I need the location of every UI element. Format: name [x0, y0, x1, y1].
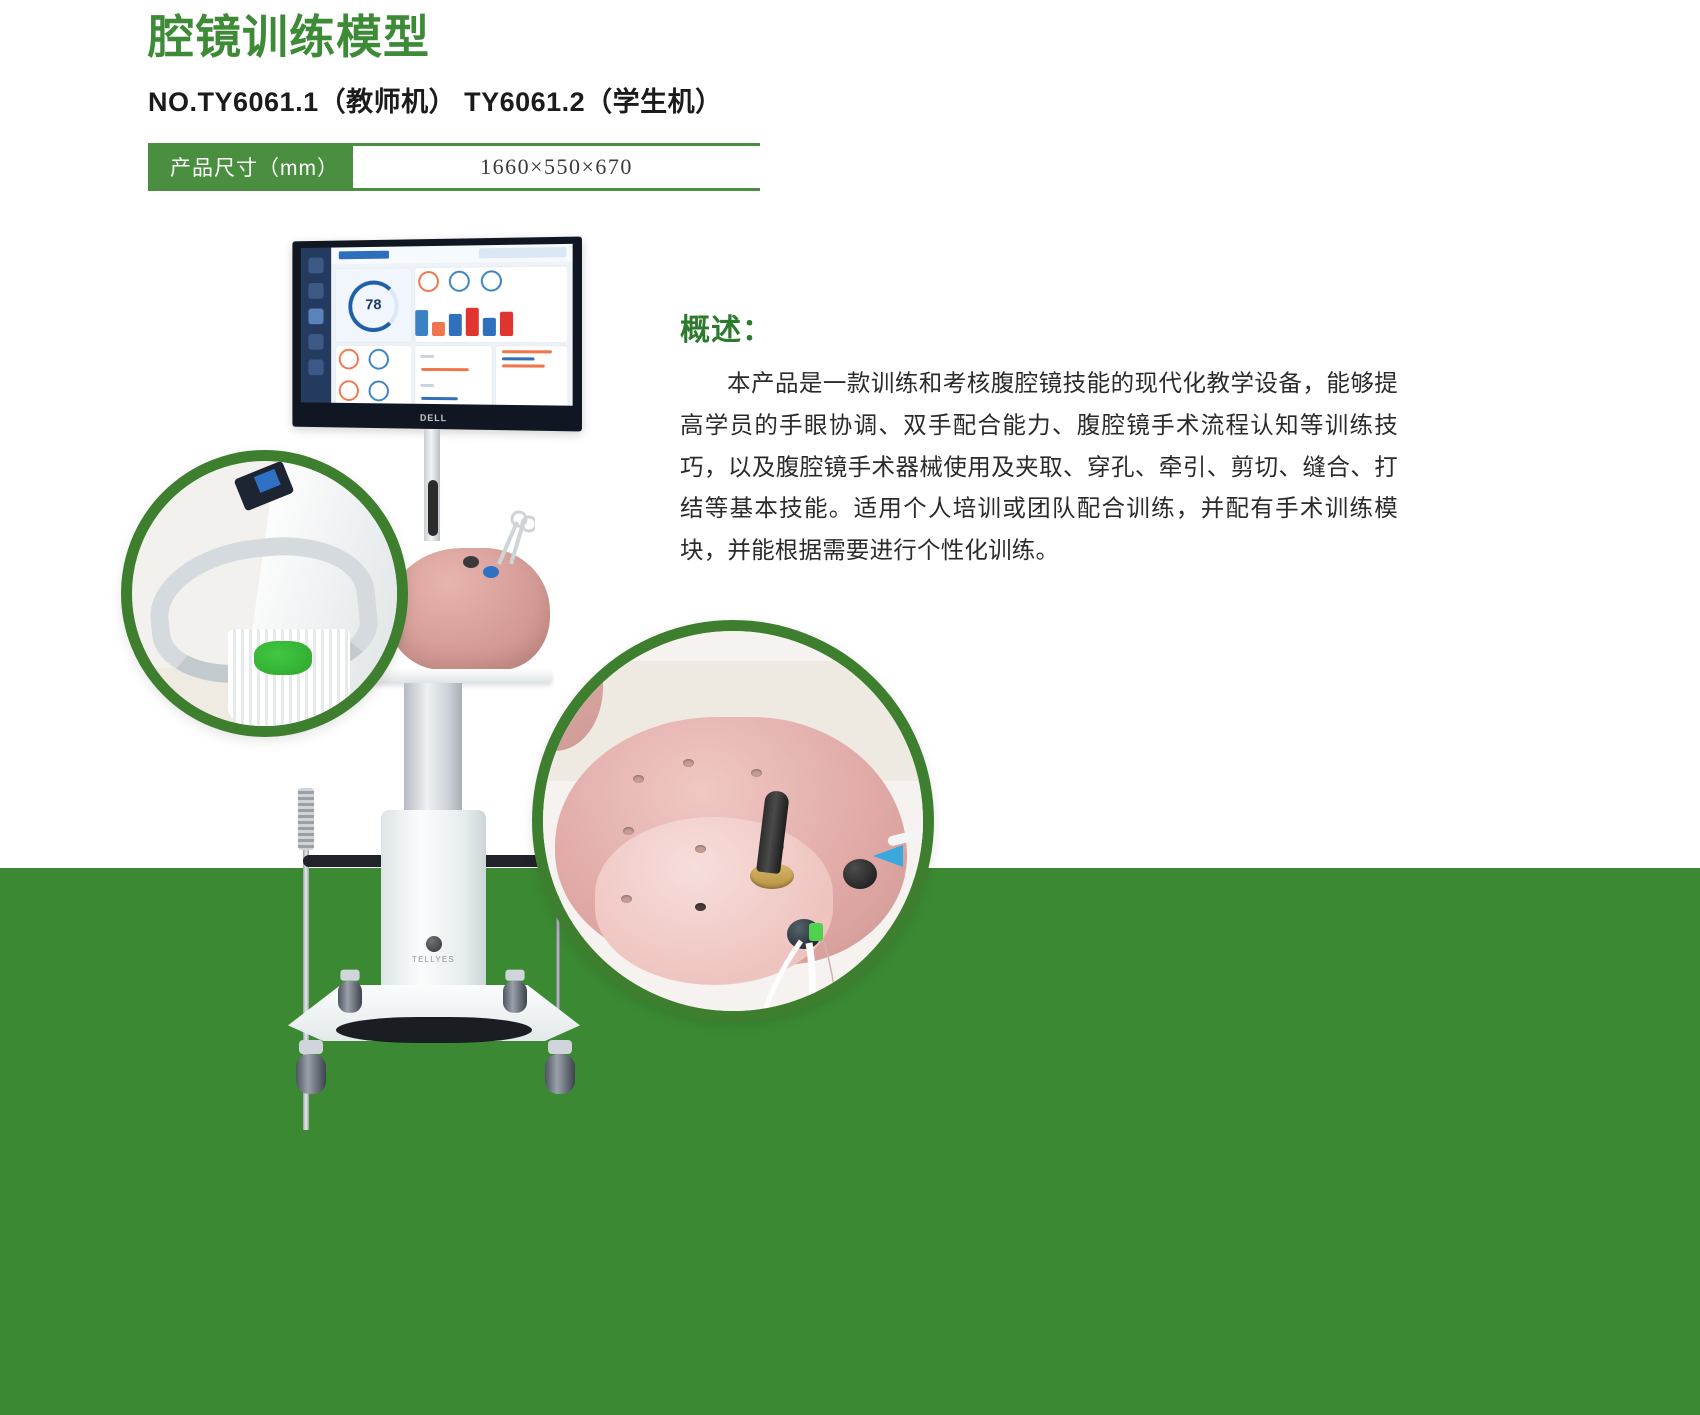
blue-valve-cap — [873, 845, 903, 867]
metric-ring-blue-2 — [481, 270, 502, 291]
dashboard-row-top: 78 — [336, 266, 568, 342]
dashboard-sidebar — [301, 248, 331, 403]
caster-cap — [299, 1040, 323, 1054]
cart-brand-logo: TELLYES — [381, 955, 486, 964]
hbar-blue — [502, 357, 534, 360]
cart-base — [288, 985, 580, 1047]
dashboard-body: 78 — [331, 261, 572, 405]
dashboard-row-bottom — [336, 346, 568, 406]
insertion-hole — [621, 895, 632, 903]
caster-roller — [338, 981, 362, 1013]
caster-wheel — [545, 1040, 575, 1086]
metric-ring-blue — [449, 271, 470, 292]
skill-rings — [336, 346, 411, 406]
insertion-hole — [695, 845, 706, 853]
caster-wheel — [296, 1040, 326, 1086]
score-value: 78 — [352, 297, 395, 314]
chart-bar — [483, 318, 496, 336]
skill-ring-blue-2 — [369, 380, 389, 401]
insertion-hole — [623, 827, 634, 835]
hbar-group — [415, 346, 492, 406]
summary-card — [496, 346, 568, 406]
metric-ring-orange — [418, 271, 439, 292]
score-card: 78 — [336, 268, 411, 342]
skill-ring-orange — [339, 349, 359, 370]
cart-logo-mark — [426, 936, 442, 952]
hbar-orange — [502, 364, 545, 367]
metrics-card — [415, 266, 567, 342]
caster-wheel — [338, 970, 362, 1007]
hbar-blue — [421, 397, 458, 400]
detail-inset-torso — [532, 620, 934, 1022]
insertion-hole — [633, 775, 644, 783]
trocar-port — [463, 556, 479, 568]
caster-roller — [545, 1054, 575, 1094]
sidebar-icon-home — [308, 258, 323, 274]
metric-bar-chart — [415, 299, 567, 336]
chart-bar — [500, 312, 513, 336]
suture-threads — [705, 937, 845, 1022]
hbar-orange — [502, 350, 552, 353]
bar-label — [420, 355, 434, 358]
skill-ring-orange-2 — [339, 380, 359, 401]
insertion-hole — [683, 759, 694, 767]
caster-cap — [340, 970, 359, 981]
laparoscope-instrument — [428, 480, 438, 536]
chart-bar — [466, 308, 479, 336]
manikin-abdomen — [555, 717, 907, 965]
caster-cap — [548, 1040, 572, 1054]
insertion-hole — [751, 769, 762, 777]
insertion-hole — [695, 903, 706, 911]
chart-bar — [449, 314, 462, 336]
sidebar-icon-settings — [308, 359, 323, 375]
product-photo: 78 — [0, 0, 1700, 1415]
score-ring: 78 — [348, 281, 398, 333]
bar-label — [420, 384, 434, 387]
monitor-brand-logo: DELL — [292, 411, 582, 425]
dashboard-title-bar — [339, 251, 389, 260]
chart-bar — [432, 322, 445, 336]
cart-lift-column — [404, 683, 462, 813]
sidebar-icon-reports — [308, 334, 323, 350]
sidebar-icon-activity — [308, 283, 323, 299]
hbar-orange — [421, 368, 468, 371]
caster-cap — [505, 970, 524, 981]
performance-card — [415, 346, 492, 406]
chart-bar — [415, 310, 428, 336]
sidebar-icon-results — [308, 309, 323, 325]
caster-roller — [296, 1054, 326, 1094]
monitor: 78 — [292, 237, 582, 432]
caster-roller — [503, 981, 527, 1013]
caster-wheel — [503, 970, 527, 1007]
skill-ring-blue — [369, 349, 389, 370]
skill-card-left — [336, 346, 411, 406]
trocar-black — [843, 859, 877, 889]
green-module-in-basket — [254, 641, 312, 675]
monitor-screen: 78 — [301, 244, 573, 406]
surgical-scissors — [493, 510, 535, 568]
metric-rings — [415, 266, 567, 300]
dashboard-user-info — [479, 247, 567, 258]
accessory-pole-grip — [298, 788, 314, 850]
detail-inset-handle — [121, 450, 408, 737]
base-trim — [336, 1017, 532, 1043]
